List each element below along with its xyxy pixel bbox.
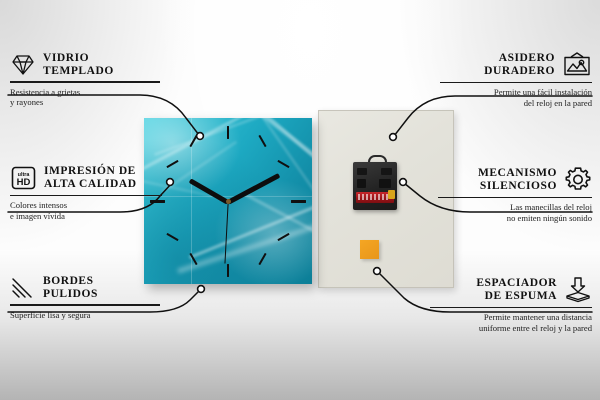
feature-espaciador-de-espuma: ESPACIADOR DE ESPUMA Permite mantener un…	[430, 276, 592, 333]
feature-divider	[10, 304, 160, 305]
feature-vidrio-templado: VIDRIO TEMPLADO Resistencia a grietas y …	[10, 52, 160, 107]
polished-edges-icon	[10, 276, 36, 300]
hanging-frame-icon	[562, 52, 592, 78]
feature-divider	[430, 307, 592, 308]
feature-description: Superficie lisa y segura	[10, 310, 160, 320]
feature-description: Resistencia a grietas y rayones	[10, 87, 160, 108]
feature-description: Permite una fácil instalación del reloj …	[440, 87, 592, 108]
feature-title: ASIDERO DURADERO	[484, 52, 555, 77]
infographic-canvas: VIDRIO TEMPLADO Resistencia a grietas y …	[0, 0, 600, 400]
gear-icon	[564, 166, 592, 193]
feature-title: IMPRESIÓN DE ALTA CALIDAD	[44, 165, 137, 190]
feature-divider	[440, 82, 592, 83]
ultra-hd-icon: ultra HD	[10, 165, 37, 191]
feature-divider	[10, 81, 160, 82]
feature-title: VIDRIO TEMPLADO	[43, 52, 114, 77]
feature-description: Colores intensos e imagen vívida	[10, 200, 162, 221]
feature-impresion-alta-calidad: ultra HD IMPRESIÓN DE ALTA CALIDAD Color…	[10, 165, 162, 221]
feature-description: Permite mantener una distancia uniforme …	[430, 312, 592, 333]
feature-bordes-pulidos: BORDES PULIDOS Superficie lisa y segura	[10, 275, 160, 320]
feature-divider	[10, 195, 162, 196]
mechanism-slot	[379, 179, 391, 188]
clock-front-face	[144, 118, 312, 284]
mechanism-slot	[357, 168, 367, 175]
ultra-hd-large-label: HD	[17, 177, 31, 188]
feature-title: ESPACIADOR DE ESPUMA	[476, 277, 557, 302]
clock-center-cap	[226, 199, 231, 204]
feature-asidero-duradero: ASIDERO DURADERO Permite una fácil insta…	[440, 52, 592, 108]
foam-spacer-icon	[564, 276, 592, 303]
feature-title: BORDES PULIDOS	[43, 275, 98, 300]
battery-plus-terminal	[388, 190, 395, 199]
product-image	[132, 104, 342, 299]
foam-spacer-sample	[360, 240, 379, 259]
feature-divider	[438, 197, 592, 198]
hour-mark-12	[227, 126, 229, 139]
hour-mark-3	[291, 200, 306, 203]
mechanism-slot	[357, 179, 366, 188]
feature-description: Las manecillas del reloj no emiten ningú…	[438, 202, 592, 223]
battery-label	[358, 194, 388, 200]
diamond-icon	[10, 53, 36, 77]
feature-title: MECANISMO SILENCIOSO	[478, 167, 557, 192]
artwork-seam	[144, 196, 312, 197]
mechanism-slot	[381, 168, 392, 175]
feature-mecanismo-silencioso: MECANISMO SILENCIOSO Las manecillas del …	[438, 166, 592, 223]
hour-mark-6	[227, 264, 229, 277]
